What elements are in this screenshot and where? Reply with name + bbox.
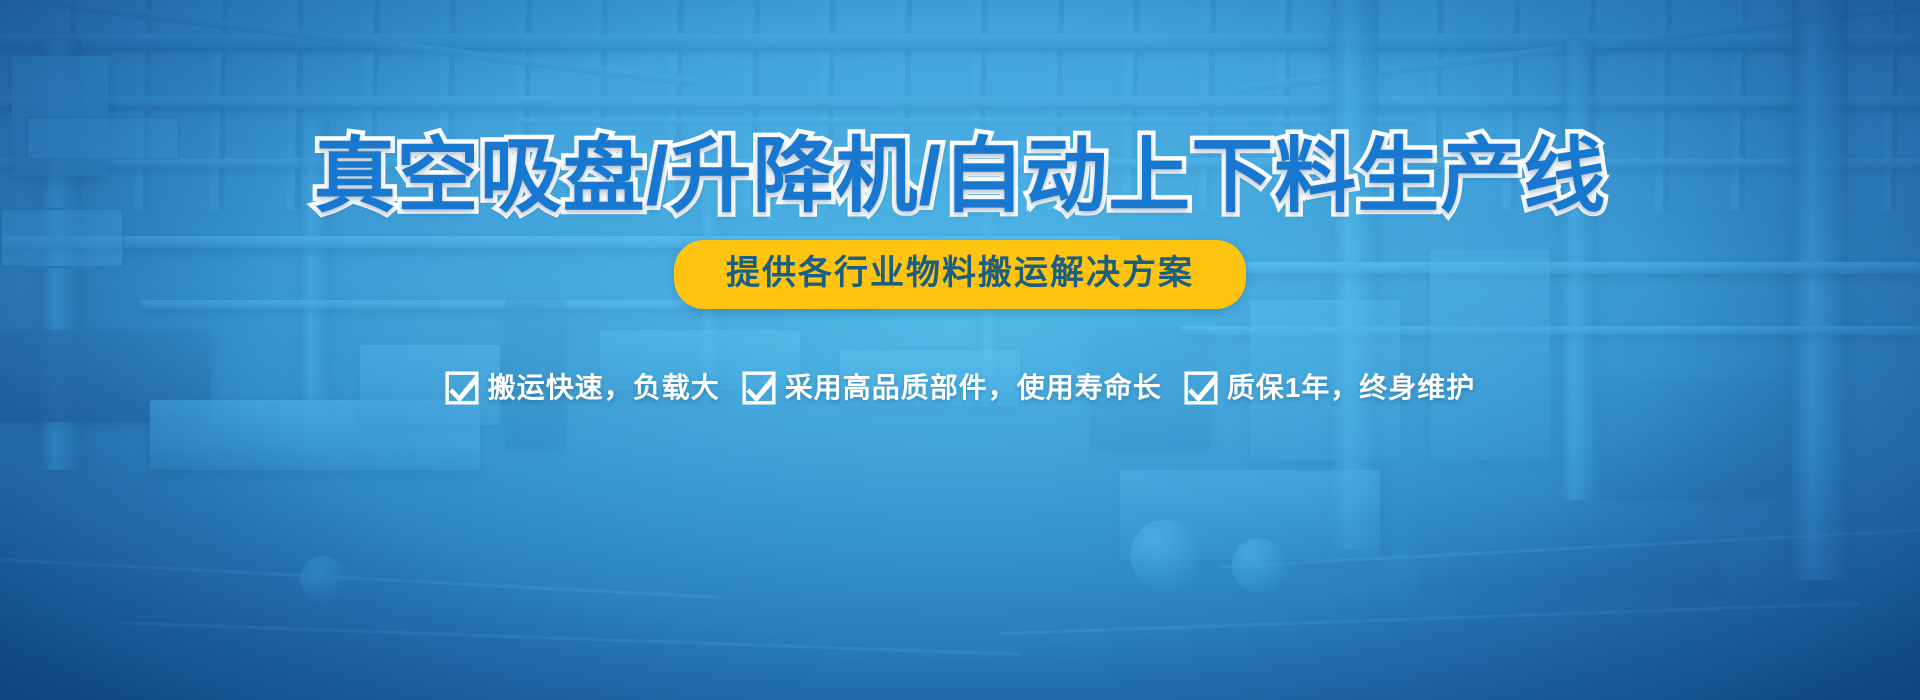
banner-headline: 真空吸盘/升降机/自动上下料生产线: [314, 134, 1607, 220]
feature-item: 采用高品质部件，使用寿命长: [742, 371, 1162, 405]
feature-item: 质保1年，终身维护: [1184, 371, 1476, 405]
feature-item: 搬运快速，负载大: [445, 371, 720, 405]
feature-list: 搬运快速，负载大 采用高品质部件，使用寿命长: [445, 371, 1476, 405]
feature-label: 质保1年，终身维护: [1227, 374, 1476, 402]
banner-content: 真空吸盘/升降机/自动上下料生产线 提供各行业物料搬运解决方案 搬运快速，负载大: [0, 0, 1920, 700]
feature-label: 搬运快速，负载大: [488, 374, 720, 402]
checkbox-check-icon: [742, 371, 776, 405]
banner-subtitle-pill: 提供各行业物料搬运解决方案: [674, 240, 1246, 309]
checkbox-check-icon: [1184, 371, 1218, 405]
promo-banner: 真空吸盘/升降机/自动上下料生产线 提供各行业物料搬运解决方案 搬运快速，负载大: [0, 0, 1920, 700]
feature-label: 采用高品质部件，使用寿命长: [785, 374, 1162, 402]
checkbox-check-icon: [445, 371, 479, 405]
